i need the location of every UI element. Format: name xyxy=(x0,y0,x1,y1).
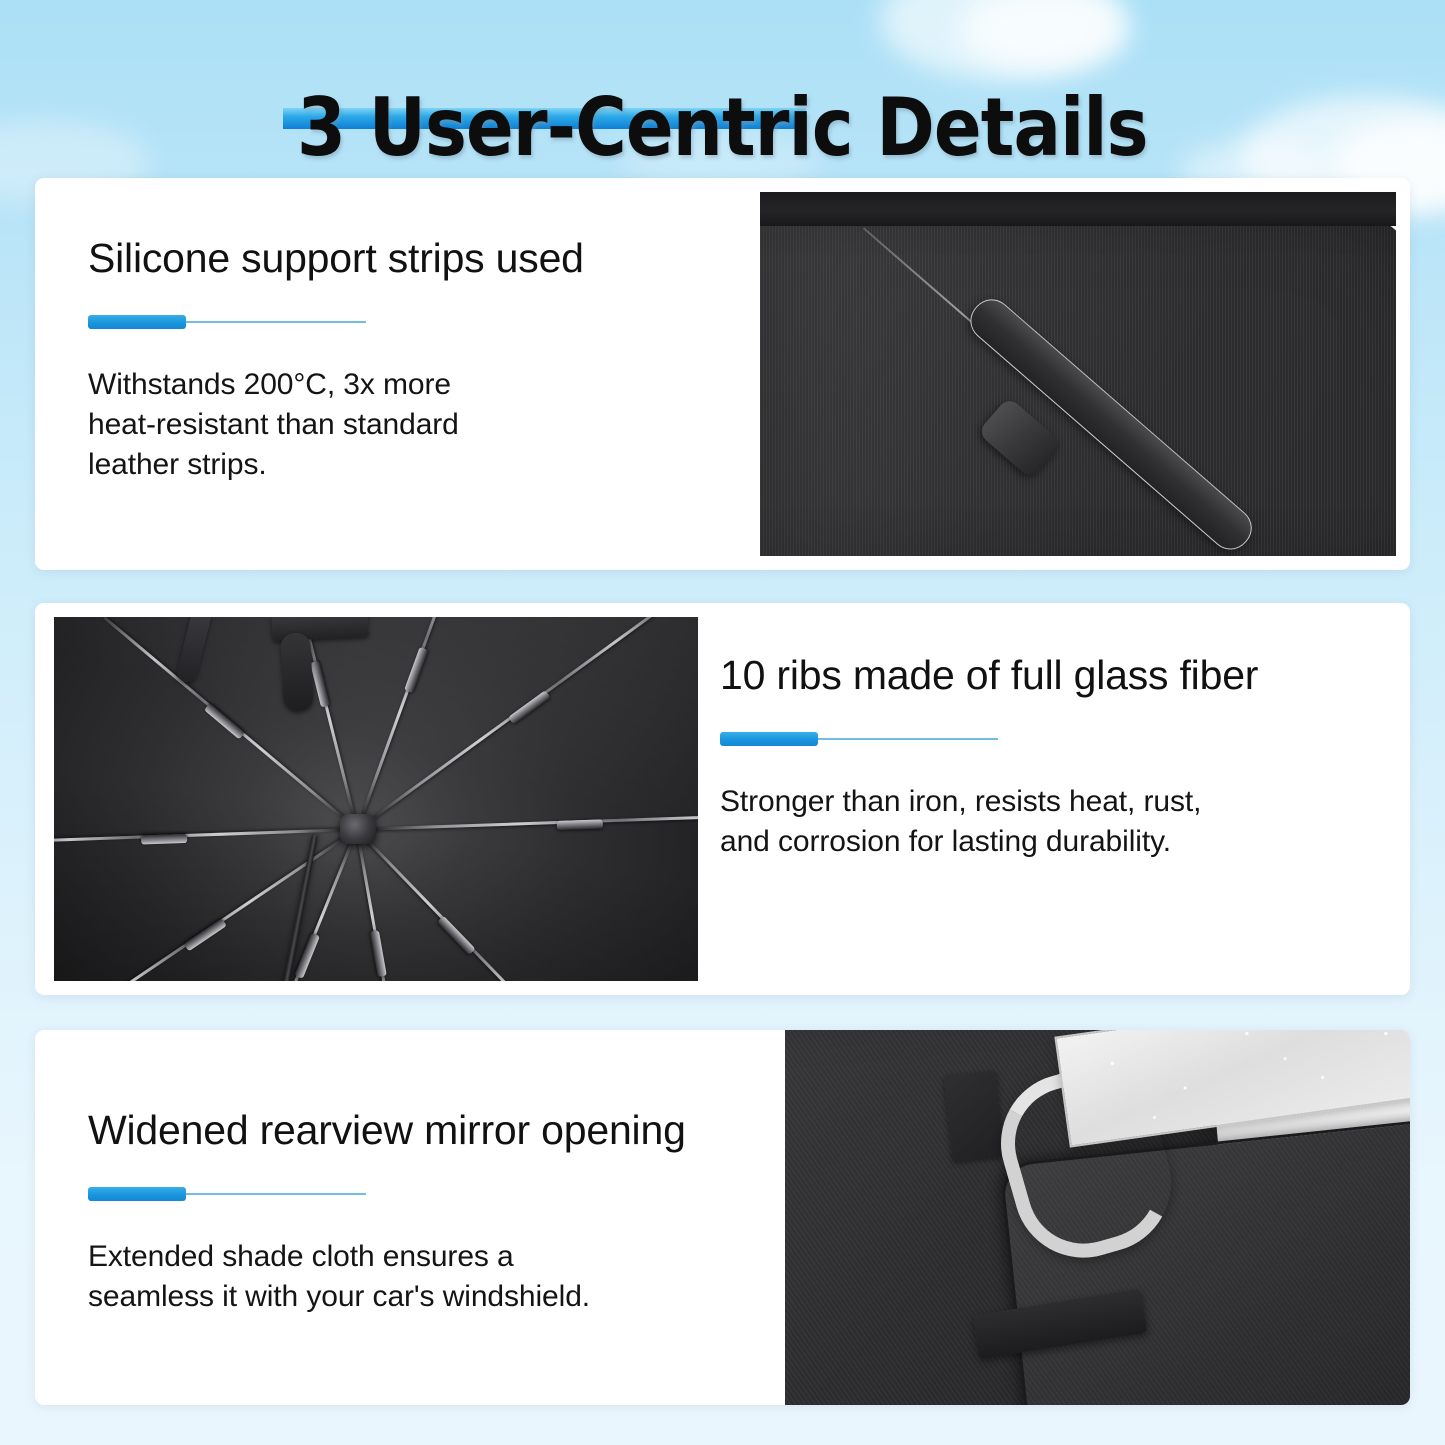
sunshade-corner-photo xyxy=(760,192,1396,556)
velcro-patch xyxy=(944,1071,1005,1162)
card-heading: Widened rearview mirror opening xyxy=(88,1108,785,1153)
accent-divider xyxy=(88,1187,366,1201)
umbrella-hub xyxy=(340,814,376,844)
card-text-pane: Widened rearview mirror opening Extended… xyxy=(35,1030,785,1405)
card-photo-pane xyxy=(35,603,698,995)
accent-divider xyxy=(88,315,366,329)
card-heading: Silicone support strips used xyxy=(88,236,760,281)
card-heading: 10 ribs made of full glass fiber xyxy=(720,653,1410,698)
card-photo-pane xyxy=(760,178,1410,570)
umbrella-ribs-photo xyxy=(54,617,698,981)
card-layout: Silicone support strips used Withstands … xyxy=(35,178,1410,570)
infographic-page: 3 User-Centric Details Silicone support … xyxy=(0,0,1445,1445)
card-layout: Widened rearview mirror opening Extended… xyxy=(35,1030,1410,1405)
feature-card: 10 ribs made of full glass fiber Stronge… xyxy=(35,603,1410,995)
card-text-pane: 10 ribs made of full glass fiber Stronge… xyxy=(698,603,1410,995)
divider-thick-segment xyxy=(720,732,818,746)
page-title: 3 User-Centric Details xyxy=(297,88,1148,168)
divider-thick-segment xyxy=(88,315,186,329)
card-layout: 10 ribs made of full glass fiber Stronge… xyxy=(35,603,1410,995)
feature-card: Widened rearview mirror opening Extended… xyxy=(35,1030,1410,1405)
card-body-text: Stronger than iron, resists heat, rust, … xyxy=(720,782,1410,862)
card-body-text: Withstands 200°C, 3x more heat-resistant… xyxy=(88,365,760,485)
canopy-tab xyxy=(280,632,314,711)
divider-thick-segment xyxy=(88,1187,186,1201)
page-title-area: 3 User-Centric Details xyxy=(0,34,1445,221)
shade-cloth-photo xyxy=(785,1030,1410,1405)
card-body-text: Extended shade cloth ensures a seamless … xyxy=(88,1237,785,1317)
card-text-pane: Silicone support strips used Withstands … xyxy=(35,178,760,570)
accent-divider xyxy=(720,732,998,746)
feature-card: Silicone support strips used Withstands … xyxy=(35,178,1410,570)
card-photo-pane xyxy=(785,1030,1410,1405)
